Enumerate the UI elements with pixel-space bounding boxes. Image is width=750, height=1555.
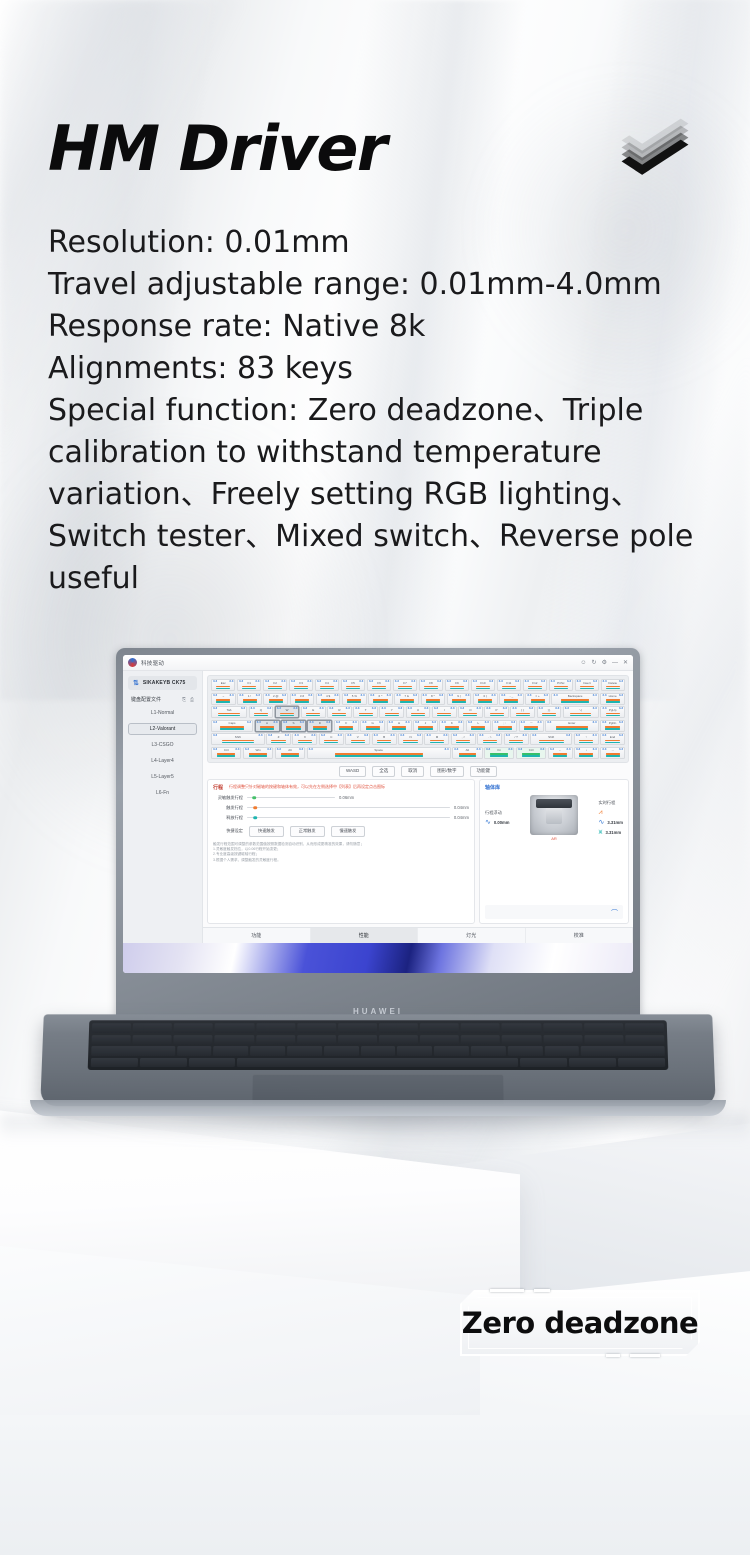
key-value-right: 3.3: [273, 721, 277, 724]
fast-trigger-button[interactable]: 快速触发: [249, 826, 284, 837]
key-alt[interactable]: 3.33.3Alt: [275, 747, 305, 759]
laptop-keycap: [508, 1046, 543, 1055]
key-z[interactable]: 3.33.3Z: [266, 733, 291, 745]
key-bar-release: [553, 755, 567, 756]
key-label: E: [312, 709, 314, 712]
key-y[interactable]: 3.33.3Y: [379, 706, 404, 718]
key-bars: [553, 753, 567, 756]
key-value-right: 3.3: [230, 694, 234, 697]
key-value-left: 3.3: [576, 748, 580, 751]
key-bar-release: [606, 755, 620, 756]
key-bars: [476, 686, 490, 689]
key-label: PrtSc: [557, 682, 564, 685]
key-bar-release: [471, 728, 485, 729]
key-f3[interactable]: 3.33.3F3: [289, 679, 313, 691]
key-shift[interactable]: 3.33.3Shift: [211, 733, 265, 745]
key-3-#[interactable]: 3.33.33 #: [290, 693, 315, 705]
key-bars: [516, 713, 530, 716]
key-value-right: 3.3: [338, 734, 342, 737]
key-label: ←: [559, 749, 562, 752]
key-bar-release: [324, 742, 338, 743]
key-value-left: 3.3: [460, 707, 464, 710]
key-value-left: 3.3: [321, 734, 325, 737]
key-value-right: 3.3: [364, 734, 368, 737]
key-delete[interactable]: 3.33.3Delete: [601, 679, 625, 691]
key-shift[interactable]: 3.33.3Shift: [530, 733, 572, 745]
normal-trigger-button[interactable]: 正常触发: [290, 826, 325, 837]
key-bar-release: [411, 715, 425, 716]
key-label: H: [398, 722, 400, 725]
laptop-keycap: [213, 1046, 248, 1055]
key-bar-release: [498, 728, 512, 729]
key-value-left: 3.3: [239, 694, 243, 697]
key-↑[interactable]: 3.33.3↑: [574, 733, 599, 745]
key-j[interactable]: 3.33.3J: [413, 720, 438, 732]
key-bars: [398, 686, 412, 689]
key-f6[interactable]: 3.33.3F6: [367, 679, 391, 691]
key-value-right: 3.3: [417, 734, 421, 737]
laptop-keycap: [361, 1046, 396, 1055]
key-label: \ |: [580, 709, 582, 712]
quickselect-button-取消[interactable]: 取消: [401, 766, 424, 777]
sidebar-item-layer[interactable]: L4-Layer4: [128, 755, 197, 767]
switch-metric: ∿ 3.31mm: [599, 819, 623, 826]
key-d[interactable]: 3.33.3D: [307, 720, 332, 732]
key-bars: [418, 726, 432, 729]
slider-value: 0.04mm: [454, 805, 469, 810]
laptop-keycap: [625, 1035, 664, 1044]
key-2-@[interactable]: 3.33.32 @: [263, 693, 288, 705]
laptop-keycap: [324, 1046, 359, 1055]
key-c[interactable]: 3.33.3C: [319, 733, 344, 745]
key-label: A: [266, 722, 268, 725]
key-backspace[interactable]: 3.33.3Backspace: [551, 693, 598, 705]
key-value-right: 3.3: [470, 734, 474, 737]
key-l[interactable]: 3.33.3L: [466, 720, 491, 732]
key-g[interactable]: 3.33.3G: [360, 720, 385, 732]
laptop-keycap: [287, 1046, 322, 1055]
laptop-keycap: [520, 1058, 567, 1067]
key-s[interactable]: 3.33.3S: [281, 720, 306, 732]
key-bars: [254, 713, 268, 716]
key-label: V: [357, 736, 359, 739]
key-bars: [490, 753, 508, 756]
slow-trigger-button[interactable]: 慢速触发: [331, 826, 366, 837]
desktop-wallpaper: [123, 943, 633, 973]
key-bars: [243, 699, 257, 702]
key-value-right: 3.3: [439, 694, 443, 697]
key-f12[interactable]: 3.33.3F12: [523, 679, 547, 691]
key-.->[interactable]: 3.33.3. >: [477, 733, 502, 745]
key-7-&[interactable]: 3.33.37 &: [394, 693, 419, 705]
key-q[interactable]: 3.33.3Q: [249, 706, 274, 718]
switch-caption: AR: [530, 836, 578, 841]
keyboard-row: 3.33.3~3.33.31 !3.33.32 @3.33.33 #3.33.3…: [211, 693, 625, 705]
sidebar-item-layer[interactable]: L3-CSGO: [128, 739, 197, 751]
key-value-left: 3.3: [347, 734, 351, 737]
key-bars: [528, 686, 542, 689]
key-insert[interactable]: 3.33.3Insert: [575, 679, 599, 691]
key-8-*[interactable]: 3.33.38 *: [421, 693, 446, 705]
key-label: F6: [377, 682, 381, 685]
key-h[interactable]: 3.33.3H: [387, 720, 412, 732]
key-home[interactable]: 3.33.3Home: [600, 693, 625, 705]
quickselect-button-全选[interactable]: 全选: [372, 766, 395, 777]
key-v[interactable]: 3.33.3V: [345, 733, 370, 745]
key-bars: [321, 699, 335, 702]
key-value-left: 3.3: [318, 694, 322, 697]
laptop-keycap: [140, 1058, 187, 1067]
key-value-right: 3.3: [256, 694, 260, 697]
key-bar-release: [295, 701, 309, 702]
key-bars: [281, 753, 299, 756]
key-bars: [366, 726, 380, 729]
key-tab[interactable]: 3.33.3Tab: [211, 706, 247, 718]
app-logo-icon: [128, 658, 137, 667]
slider-track[interactable]: [247, 817, 450, 819]
key-bars: [320, 686, 334, 689]
key-label: 3 #: [300, 695, 304, 698]
key-bars: [452, 699, 466, 702]
key-f7[interactable]: 3.33.3F7: [393, 679, 417, 691]
key-value-right: 3.3: [326, 721, 330, 724]
key-←[interactable]: 3.33.3←: [548, 747, 573, 759]
key-n[interactable]: 3.33.3N: [398, 733, 423, 745]
key-bars: [556, 726, 588, 729]
key-bars: [411, 713, 425, 716]
key-→[interactable]: 3.33.3→: [600, 747, 625, 759]
key-label: [ {: [521, 709, 524, 712]
key-bar-release: [450, 688, 464, 689]
key-bar-release: [531, 701, 545, 702]
refresh-icon[interactable]: ↻: [592, 660, 597, 666]
key-value-left: 3.3: [468, 721, 472, 724]
key-bar-release: [403, 742, 417, 743]
laptop-screen: 科技驱动 ☺ ↻ ⚙ — ✕ ⇅ SIKAKEYB CK75: [123, 655, 633, 973]
key-value-left: 3.3: [309, 748, 313, 751]
laptop-keycap: [338, 1035, 377, 1044]
key-p[interactable]: 3.33.3P: [484, 706, 509, 718]
switch-float-metric: ∿ 0.00mm: [485, 819, 509, 826]
key-pgdn[interactable]: 3.33.3PgDn: [600, 720, 625, 732]
key-value-left: 3.3: [565, 707, 569, 710]
key-b[interactable]: 3.33.3B: [372, 733, 397, 745]
key-value-left: 3.3: [426, 734, 430, 737]
key-value-left: 3.3: [525, 680, 529, 683]
laptop-key-row: [92, 1035, 665, 1044]
laptop-key-row: [92, 1023, 664, 1032]
key-value-right: 3.3: [619, 748, 623, 751]
key-value-left: 3.3: [479, 734, 483, 737]
key-value-right: 3.3: [465, 694, 469, 697]
key-bars: [605, 740, 619, 743]
key-bar-release: [509, 742, 523, 743]
key-value-right: 3.3: [540, 748, 544, 751]
key-prtsc[interactable]: 3.33.3PrtSc: [549, 679, 573, 691]
key-value-left: 3.3: [257, 721, 261, 724]
key-↓[interactable]: 3.33.3↓: [574, 747, 599, 759]
key-o[interactable]: 3.33.3O: [458, 706, 483, 718]
key-alt[interactable]: 3.33.3Alt: [452, 747, 482, 759]
key-e[interactable]: 3.33.3E: [301, 706, 326, 718]
key-=-+[interactable]: 3.33.3= +: [525, 693, 550, 705]
key-bar-release: [254, 715, 268, 716]
travel-warning: 行程调整只针对磁轴的按键和轴体有效，可以先在左侧选择中【列表】后再设定点击图标: [229, 784, 385, 789]
close-icon[interactable]: ✕: [623, 660, 628, 666]
key-win[interactable]: 3.33.3Win: [243, 747, 273, 759]
key-bar-release: [332, 715, 346, 716]
key-w[interactable]: 3.33.3W: [275, 706, 300, 718]
switch-metric-value: 3.31mm: [605, 830, 621, 835]
key-bar-release: [456, 742, 470, 743]
device-selector[interactable]: ⇅ SIKAKEYB CK75: [128, 676, 197, 690]
tab-功能[interactable]: 功能: [203, 928, 311, 943]
key-bar-release: [483, 742, 497, 743]
key-u[interactable]: 3.33.3U: [406, 706, 431, 718]
slider-label: 触发行程: [213, 805, 243, 811]
key-f5[interactable]: 3.33.3F5: [341, 679, 365, 691]
key-bar-release: [579, 755, 593, 756]
key-bar-release: [373, 701, 387, 702]
key-bar-release: [321, 701, 335, 702]
switch-panel-title: 轴体库: [485, 784, 623, 791]
key-f1[interactable]: 3.33.3F1: [237, 679, 261, 691]
key-pgup[interactable]: 3.33.3PgUp: [600, 706, 625, 718]
import-icon[interactable]: ⎘: [182, 697, 186, 703]
minimize-button[interactable]: —: [612, 660, 618, 666]
quickselect-button-图形/数字[interactable]: 图形/数字: [430, 766, 463, 777]
key-bars: [498, 726, 512, 729]
key-ctrl[interactable]: 3.33.3Ctrl: [516, 747, 546, 759]
sidebar-item-layer[interactable]: L1-Normal: [128, 707, 197, 719]
key-value-right: 3.3: [334, 694, 338, 697]
laptop-keycap: [544, 1046, 579, 1055]
tab-灯光[interactable]: 灯光: [418, 928, 526, 943]
key-bar-release: [217, 755, 235, 756]
key-value-left: 3.3: [475, 694, 479, 697]
laptop-keycap: [215, 1035, 254, 1044]
keyboard-row: 3.33.3Tab3.33.3Q3.33.3W3.33.3E3.33.3R3.3…: [211, 706, 625, 718]
key-bar-release: [298, 742, 312, 743]
key-label: ' ": [530, 722, 532, 725]
key-f4[interactable]: 3.33.3F4: [315, 679, 339, 691]
key-r[interactable]: 3.33.3R: [327, 706, 352, 718]
key-5-%[interactable]: 3.33.35 %: [342, 693, 367, 705]
key-value-right: 3.3: [235, 748, 239, 751]
key-value-left: 3.3: [292, 694, 296, 697]
key-value-left: 3.3: [396, 694, 400, 697]
key-f[interactable]: 3.33.3F: [334, 720, 359, 732]
key-value-left: 3.3: [553, 694, 557, 697]
key-'-"[interactable]: 3.33.3' ": [519, 720, 544, 732]
key-label: D: [319, 722, 321, 725]
key-x[interactable]: 3.33.3X: [292, 733, 317, 745]
key-bars: [346, 686, 360, 689]
laptop-keycap: [420, 1023, 459, 1032]
slider-knob[interactable]: [253, 806, 257, 810]
key-bars: [392, 726, 406, 729]
key-bars: [298, 740, 312, 743]
key-4-$[interactable]: 3.33.34 $: [316, 693, 341, 705]
slider-knob[interactable]: [252, 796, 256, 800]
feedback-icon[interactable]: ☺: [580, 660, 586, 666]
key-9-([interactable]: 3.33.39 (: [447, 693, 472, 705]
export-icon[interactable]: ⎙: [190, 697, 194, 703]
key-;-:[interactable]: 3.33.3; :: [492, 720, 517, 732]
key-label: T: [365, 709, 367, 712]
quickselect-button-wasd[interactable]: WASD: [339, 766, 366, 777]
key-bars: [271, 740, 285, 743]
sidebar-item-layer[interactable]: L6-Fn: [128, 787, 197, 799]
key-bar-release: [418, 728, 432, 729]
key-label: X: [304, 736, 306, 739]
key-value-left: 3.3: [381, 707, 385, 710]
key-value-left: 3.3: [499, 680, 503, 683]
key-bar-release: [605, 728, 619, 729]
key-esc[interactable]: 3.33.3Esc: [211, 679, 235, 691]
key-f9[interactable]: 3.33.3F9: [445, 679, 469, 691]
key-k[interactable]: 3.33.3K: [439, 720, 464, 732]
key-f2[interactable]: 3.33.3F2: [263, 679, 287, 691]
key-a[interactable]: 3.33.3A: [255, 720, 280, 732]
key-value-right: 3.3: [300, 721, 304, 724]
key-bars: [359, 713, 373, 716]
key-bar-release: [216, 688, 230, 689]
key-label: F4: [325, 682, 329, 685]
key-bar-release: [504, 701, 518, 702]
gear-icon[interactable]: ⚙: [602, 660, 607, 666]
key-enter[interactable]: 3.33.3Enter: [545, 720, 599, 732]
key-bars: [539, 740, 564, 743]
switch-metric: ⩘: [599, 809, 623, 816]
key-bars: [570, 713, 591, 716]
key-bar-release: [516, 715, 530, 716]
key-value-left: 3.3: [486, 748, 490, 751]
key-f11[interactable]: 3.33.3F11: [497, 679, 521, 691]
page-title: HM Driver: [48, 112, 386, 185]
key-label: Alt: [288, 749, 292, 752]
key-value-left: 3.3: [336, 721, 340, 724]
key-value-right: 3.3: [508, 748, 512, 751]
key-value-right: 3.3: [555, 707, 559, 710]
key-value-right: 3.3: [285, 734, 289, 737]
slider-knob[interactable]: [253, 816, 257, 820]
keyboard-panel: 3.33.3Esc3.33.3F13.33.3F23.33.3F33.33.3F…: [207, 675, 629, 763]
spec-line: Travel adjustable range: 0.01mm-4.0mm: [48, 264, 720, 306]
key-/-?[interactable]: 3.33.3/ ?: [504, 733, 529, 745]
key-bar-release: [476, 688, 490, 689]
laptop-keycap: [92, 1035, 131, 1044]
key-value-right: 3.3: [413, 694, 417, 697]
laptop-keycap: [338, 1023, 377, 1032]
key-label: N: [409, 736, 411, 739]
spec-line: Response rate: Native 8k: [48, 306, 720, 348]
travel-note: 3.根据个人需求，调整触发的灵敏度行程。: [213, 858, 469, 863]
key-value-right: 3.3: [385, 680, 389, 683]
key-f10[interactable]: 3.33.3F10: [471, 679, 495, 691]
key-value-right: 3.3: [593, 694, 597, 697]
laptop-front-edge: [30, 1100, 726, 1116]
key-f8[interactable]: 3.33.3F8: [419, 679, 443, 691]
key-m[interactable]: 3.33.3M: [424, 733, 449, 745]
key-t[interactable]: 3.33.3T: [353, 706, 378, 718]
key-value-left: 3.3: [374, 734, 378, 737]
key-label: PgUp: [609, 709, 617, 712]
key-]-}[interactable]: 3.33.3] }: [537, 706, 562, 718]
key-bar-release: [313, 728, 327, 729]
key-bar-release: [346, 688, 360, 689]
key-bars: [430, 740, 444, 743]
laptop-keycap: [502, 1035, 541, 1044]
key-,-<[interactable]: 3.33.3, <: [451, 733, 476, 745]
bottom-tab-bar: 功能性能灯光校准: [203, 927, 633, 943]
slider-track[interactable]: [247, 807, 450, 809]
key-bars: [249, 753, 267, 756]
key-bars: [216, 699, 230, 702]
key-[-{[interactable]: 3.33.3[ {: [510, 706, 535, 718]
key-value-right: 3.3: [398, 707, 402, 710]
key-label: 1 !: [248, 695, 251, 698]
key-bars: [313, 726, 327, 729]
key-1-![interactable]: 3.33.31 !: [237, 693, 262, 705]
key-label: F3: [299, 682, 303, 685]
key-\-|[interactable]: 3.33.3\ |: [563, 706, 599, 718]
key-0-)[interactable]: 3.33.30 ): [473, 693, 498, 705]
sidebar: ⇅ SIKAKEYB CK75 键盘配置文件 ⎘ ⎙ L1-Normal L2-…: [123, 671, 203, 943]
window-controls: ☺ ↻ ⚙ — ✕: [580, 660, 628, 666]
key-value-left: 3.3: [291, 680, 295, 683]
key-value-left: 3.3: [213, 721, 217, 724]
key-value-right: 3.3: [619, 694, 623, 697]
chevron-down-stack-icon: [628, 118, 728, 188]
quickselect-button-功能键[interactable]: 功能键: [470, 766, 498, 777]
slider-track[interactable]: [247, 797, 335, 799]
key-~[interactable]: 3.33.3~: [211, 693, 236, 705]
key-6-^[interactable]: 3.33.36 ^: [368, 693, 393, 705]
key-fn[interactable]: 3.33.3Fn: [484, 747, 514, 759]
key-caps[interactable]: 3.33.3Caps: [211, 720, 253, 732]
key-bar-release: [359, 715, 373, 716]
key---_[interactable]: 3.33.3- _: [499, 693, 524, 705]
key-bar-release: [377, 742, 391, 743]
key-value-left: 3.3: [213, 680, 217, 683]
tab-性能[interactable]: 性能: [311, 928, 419, 943]
key-label: F7: [403, 682, 407, 685]
key-label: Shift: [548, 736, 554, 739]
key-bar-release: [222, 742, 254, 743]
zero-deadzone-badge: Zero deadzone: [460, 1290, 700, 1356]
key-value-right: 3.3: [387, 694, 391, 697]
key-label: - _: [510, 695, 514, 698]
laptop-keycap: [215, 1023, 254, 1032]
key-end[interactable]: 3.33.3End: [600, 733, 625, 745]
sidebar-item-layer[interactable]: L5-Layer5: [128, 771, 197, 783]
key-value-right: 3.3: [346, 707, 350, 710]
key-label: L: [477, 722, 479, 725]
key-i[interactable]: 3.33.3I: [432, 706, 457, 718]
tab-校准[interactable]: 校准: [526, 928, 634, 943]
key-label: 4 $: [326, 695, 330, 698]
sidebar-item-layer-selected[interactable]: L2-Valorant: [128, 723, 197, 735]
key-value-left: 3.3: [251, 707, 255, 710]
key-bars: [216, 686, 230, 689]
key-space[interactable]: 3.33.3Space: [307, 747, 451, 759]
key-label: ~: [222, 695, 224, 698]
laptop-keyboard-deck[interactable]: [88, 1020, 669, 1070]
key-ctrl[interactable]: 3.33.3Ctrl: [211, 747, 241, 759]
key-label: Ctrl: [529, 749, 534, 752]
key-value-left: 3.3: [303, 707, 307, 710]
